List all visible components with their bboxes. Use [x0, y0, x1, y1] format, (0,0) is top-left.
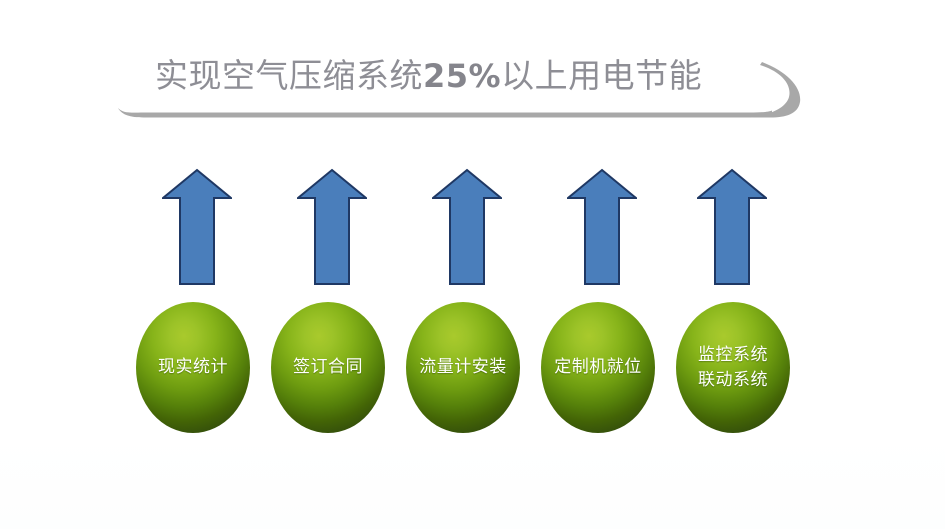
- node-label: 签订合同: [271, 355, 385, 380]
- node-circle-3[interactable]: 流量计安装: [406, 302, 520, 433]
- node-label: 流量计安装: [406, 355, 520, 380]
- node-circle-5[interactable]: 监控系统 联动系统: [676, 302, 790, 433]
- up-arrow-4: [567, 166, 637, 288]
- up-arrow-1: [162, 166, 232, 288]
- page-title: 实现空气压缩系统25%以上用电节能: [155, 50, 765, 102]
- node-row: 现实统计 签订合同 流量计安装 定制机就位 监控系统 联动系统: [0, 302, 945, 434]
- node-circle-4[interactable]: 定制机就位: [541, 302, 655, 433]
- up-arrow-3: [432, 166, 502, 288]
- arrow-up-icon: [297, 166, 367, 288]
- node-label: 定制机就位: [541, 355, 655, 380]
- node-label: 现实统计: [136, 355, 250, 380]
- arrow-up-icon: [567, 166, 637, 288]
- arrow-up-icon: [697, 166, 767, 288]
- node-label: 监控系统 联动系统: [676, 343, 790, 393]
- slide-canvas: 实现空气压缩系统25%以上用电节能: [0, 0, 945, 529]
- arrow-up-icon: [432, 166, 502, 288]
- arrow-up-icon: [162, 166, 232, 288]
- title-banner: 实现空气压缩系统25%以上用电节能: [110, 36, 810, 136]
- underline-stroke: [118, 108, 772, 118]
- title-lead: 实现空气压缩系统: [155, 56, 423, 95]
- node-circle-1[interactable]: 现实统计: [136, 302, 250, 433]
- arrow-row: [0, 166, 945, 288]
- up-arrow-2: [297, 166, 367, 288]
- up-arrow-5: [697, 166, 767, 288]
- title-percent: 25%: [423, 57, 501, 95]
- title-tail: 以上用电节能: [501, 56, 702, 95]
- node-circle-2[interactable]: 签订合同: [271, 302, 385, 433]
